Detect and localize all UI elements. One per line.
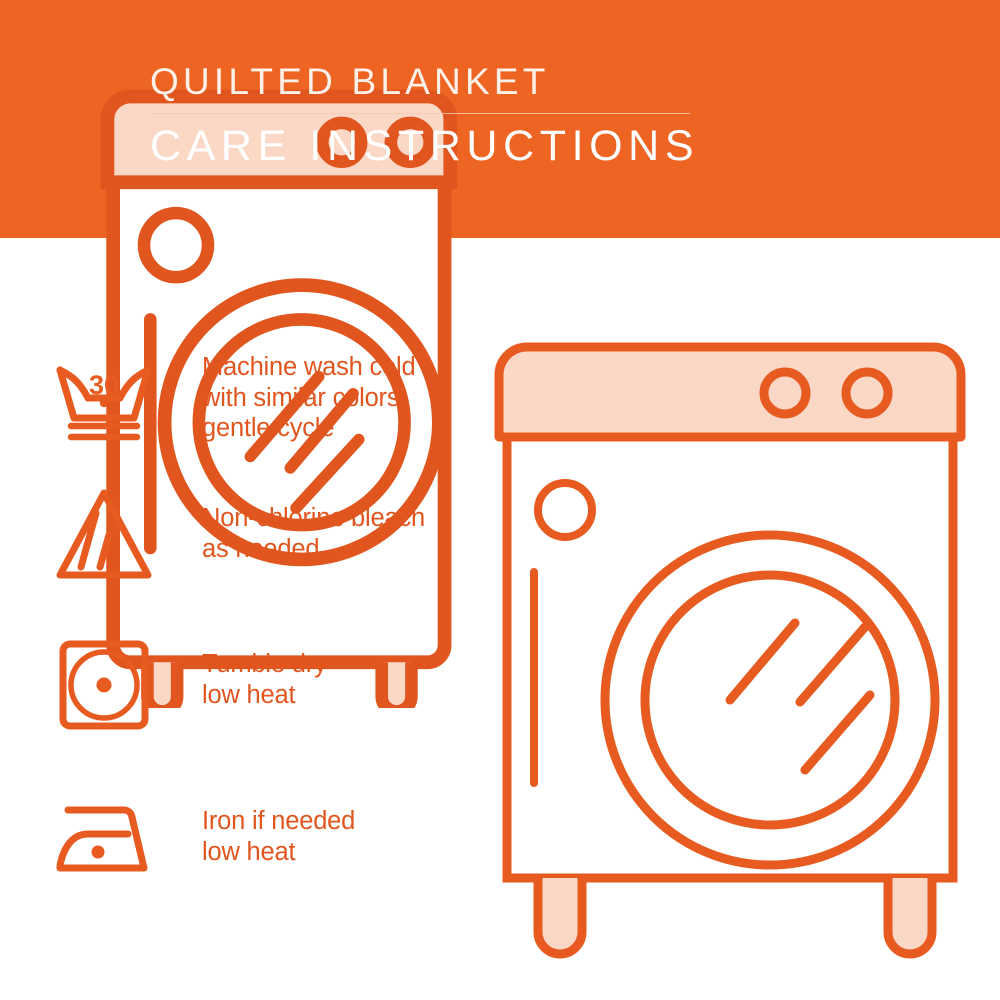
wash-tub-30-gentle-icon: 30 bbox=[52, 348, 156, 452]
washing-machine-icon bbox=[46, 68, 120, 180]
care-text-iron: Iron if needed low heat bbox=[202, 788, 355, 867]
title-divider bbox=[150, 113, 690, 114]
care-instruction-list: 30 Machine wash cold with similar colors… bbox=[0, 238, 480, 1000]
page-title-product: QUILTED BLANKET bbox=[150, 60, 699, 104]
care-row-bleach: Non-chlorine bleach as needed bbox=[52, 483, 425, 587]
care-text-machine-wash: Machine wash cold with similar colors ge… bbox=[202, 348, 415, 444]
care-text-bleach: Non-chlorine bleach as needed bbox=[202, 483, 425, 564]
header-content: QUILTED BLANKET CARE INSTRUCTIONS bbox=[46, 60, 699, 180]
triangle-non-chlorine-bleach-icon bbox=[52, 483, 156, 587]
care-instructions-page: QUILTED BLANKET CARE INSTRUCTIONS 30 Mac… bbox=[0, 0, 1000, 1000]
header-title-block: QUILTED BLANKET CARE INSTRUCTIONS bbox=[150, 60, 699, 170]
machine-leg bbox=[538, 878, 582, 954]
washing-machine-illustration bbox=[480, 320, 980, 960]
care-row-iron: Iron if needed low heat bbox=[52, 788, 355, 892]
care-text-tumble-dry: Tumble dry low heat bbox=[202, 633, 327, 710]
header-band: QUILTED BLANKET CARE INSTRUCTIONS bbox=[0, 0, 1000, 238]
iron-low-heat-icon bbox=[52, 788, 156, 892]
care-row-machine-wash: 30 Machine wash cold with similar colors… bbox=[52, 348, 415, 452]
tumble-dry-low-heat-icon bbox=[52, 633, 156, 737]
wash-temp-value: 30 bbox=[89, 370, 119, 400]
page-title-main: CARE INSTRUCTIONS bbox=[150, 122, 699, 170]
care-row-tumble-dry: Tumble dry low heat bbox=[52, 633, 327, 737]
machine-leg bbox=[888, 878, 932, 954]
